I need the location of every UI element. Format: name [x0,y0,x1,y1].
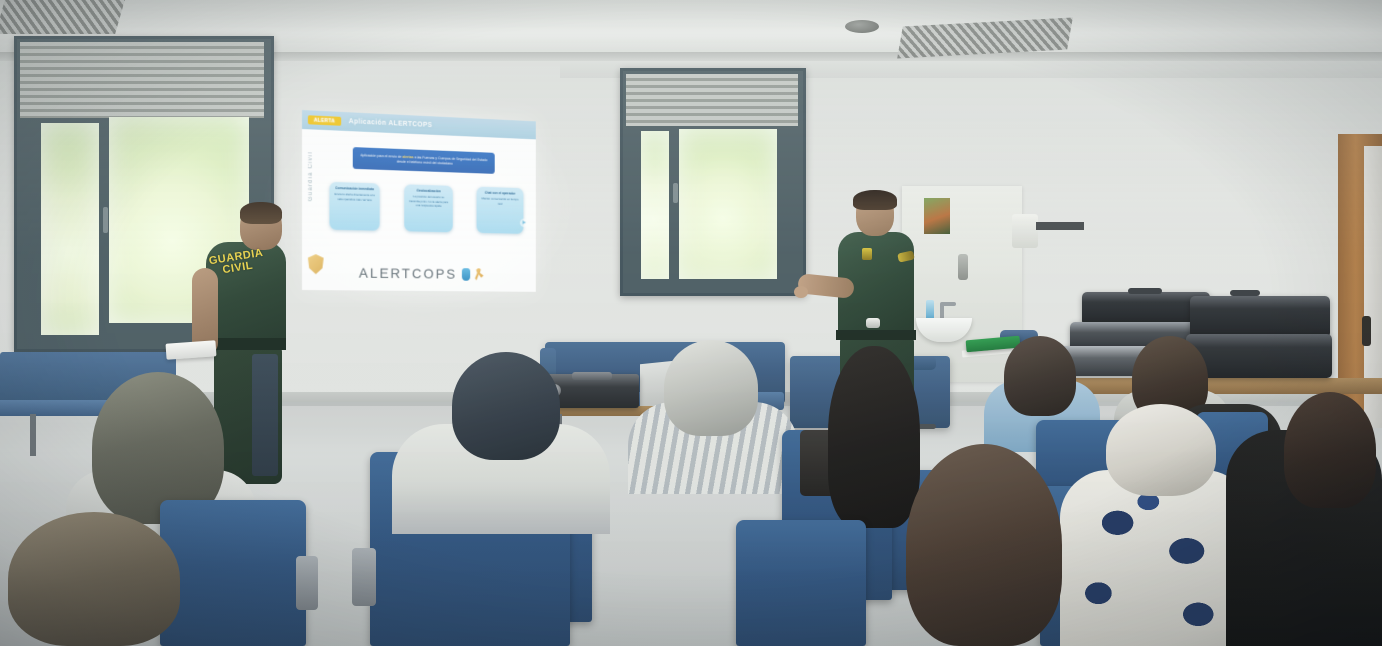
alertcops-wordmark: ALERTCOPS [359,265,457,282]
soap-dispenser[interactable] [926,300,934,320]
chair-armrest [296,556,318,610]
window-handle[interactable] [103,207,108,233]
door-handle[interactable] [1362,316,1371,346]
officer-left-belt [210,338,286,350]
slide-title: Aplicación ALERTCOPS [349,118,433,129]
audience-member-head [556,452,744,646]
audience-member-head [1284,392,1376,508]
slide-card: Chat con el operador Mantén conversación… [477,187,524,234]
play-button-icon [520,219,528,228]
audience-member-head [906,444,1062,646]
audience-member-head [828,346,920,528]
chair-armrest [352,548,376,606]
slide-banner: Aplicación para el envío de alertas a la… [353,147,495,174]
window-glass [679,129,777,279]
audience-member-body [1060,470,1252,646]
guardia-civil-figure-icon [474,268,483,281]
chair[interactable] [736,520,866,646]
banner-text-before: Aplicación para el envío de [360,153,402,159]
chair[interactable] [160,500,306,646]
wall-poster [924,198,950,234]
slide-badge: ALERTA [308,115,341,125]
case-handle[interactable] [1230,290,1260,296]
slide: ALERTA Aplicación ALERTCOPS Guardia Civi… [302,110,536,292]
slide-side-label: Guardia Civil [308,151,314,201]
window-handle[interactable] [673,183,678,203]
ceiling-vent-icon [0,0,125,34]
uniform-badge-icon [862,248,872,260]
phone-alert-icon [462,268,470,281]
slide-card-body: La posición del usuario se transmite jun… [408,195,449,208]
bench-left-leg [30,414,36,456]
window-glass [41,123,99,335]
smoke-detector-icon [845,20,879,33]
officer-left-hair [240,202,282,224]
slide-card-title: Geolocalización [408,188,449,194]
wall-phone-icon[interactable] [958,254,968,280]
window-right [620,68,806,296]
slide-card: Geolocalización La posición del usuario … [404,184,452,232]
slide-logo: ALERTCOPS [302,264,536,282]
officer-right-hand [794,286,808,298]
slide-card-title: Comunicación inmediata [333,186,375,192]
slide-card: Comunicación inmediata Envía tu alerta d… [329,182,379,231]
audience-member-head [452,352,560,460]
slide-card-row: Comunicación inmediata Envía tu alerta d… [329,182,523,234]
officer-right-hair [853,190,897,210]
officer-right-belt [836,330,916,340]
window-blind [20,42,264,118]
window-blind [626,74,798,126]
audience-member-head [1004,336,1076,416]
wall-rail [1036,222,1084,230]
projection-screen: ALERTA Aplicación ALERTCOPS Guardia Civi… [302,110,536,292]
photo-scene: ALERTA Aplicación ALERTCOPS Guardia Civi… [0,0,1382,646]
paper-towel-dispenser[interactable] [1012,214,1038,248]
wristwatch-icon [866,318,880,328]
audience-member-head [664,340,758,436]
equipment-case [1186,334,1332,378]
case-handle[interactable] [1128,288,1162,294]
projector-top [572,372,612,380]
banner-highlight: alertas [403,155,414,159]
slide-card-body: Mantén conversación en tiempo real [480,197,520,206]
slide-card-body: Envía tu alerta directamente a la sala o… [333,192,375,202]
audience-member-head [8,512,180,646]
slide-card-title: Chat con el operador [480,191,520,196]
equipment-case [1190,296,1330,338]
chair-back [252,354,278,476]
window-glass [641,131,669,279]
slide-body: Guardia Civil Aplicación para el envío d… [302,129,536,292]
audience-member-head [1106,404,1216,496]
